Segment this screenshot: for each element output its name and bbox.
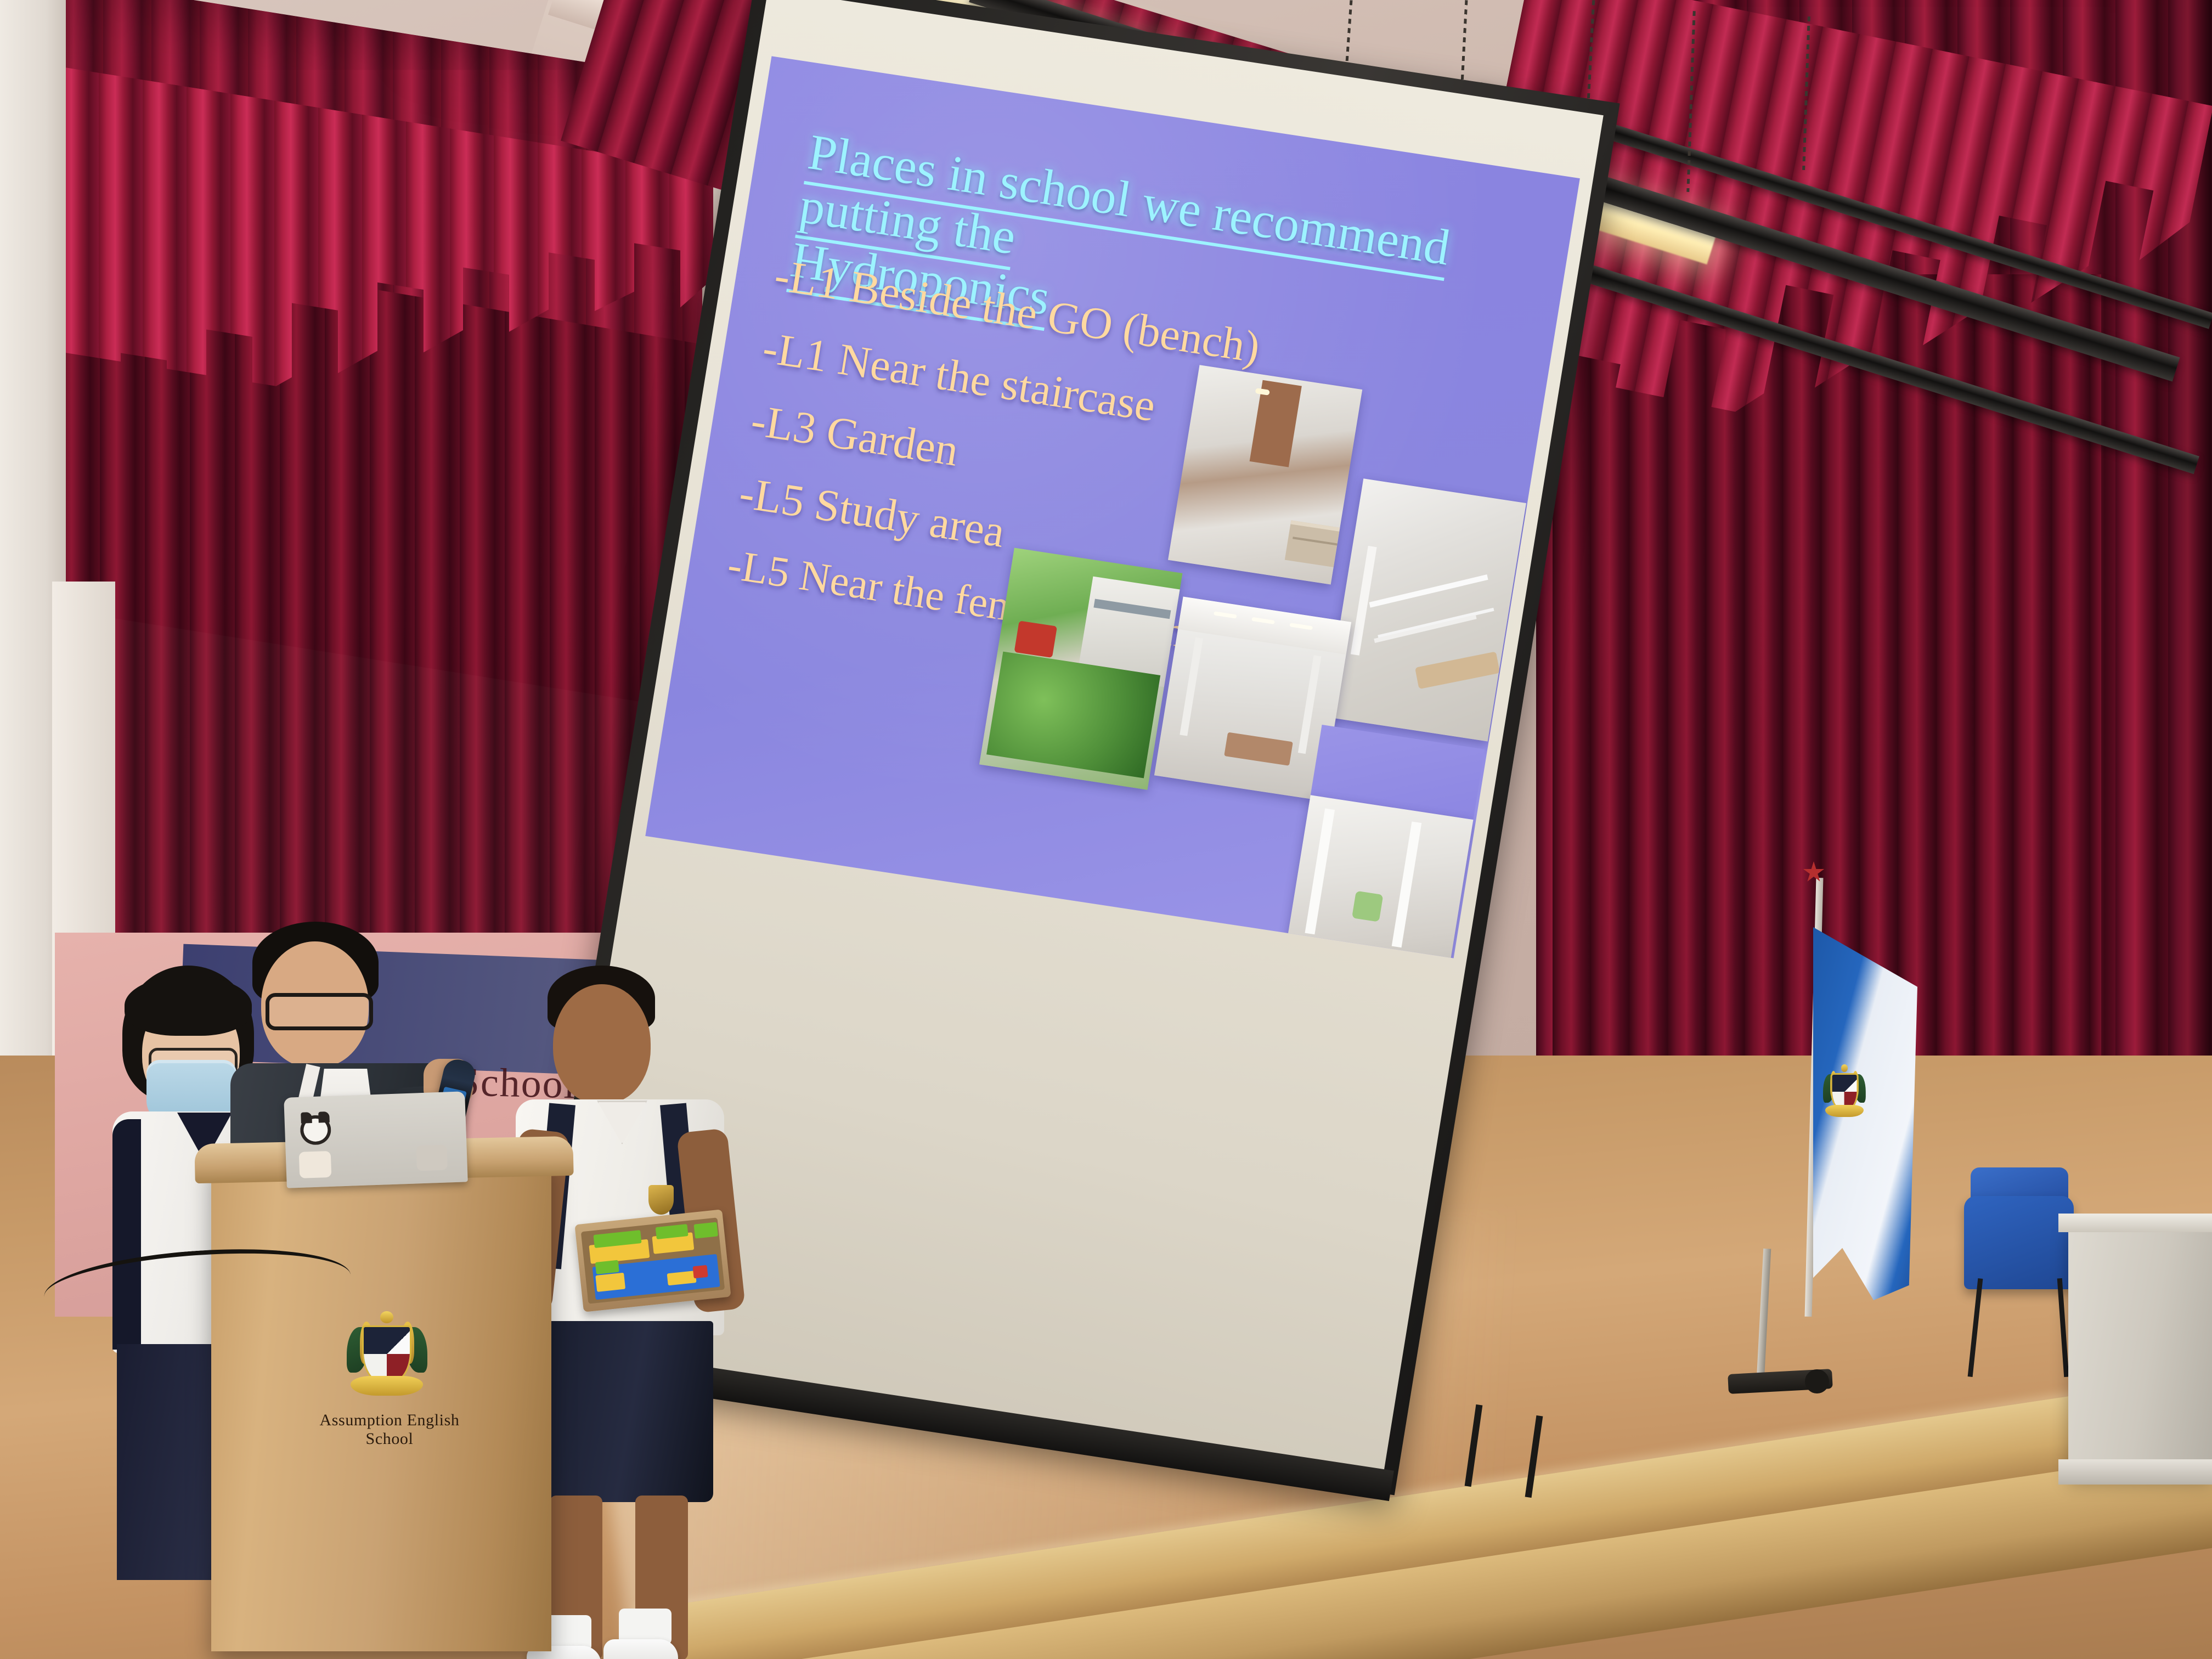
lectern-top-surface	[2058, 1214, 2212, 1232]
lego-hydroponics-model-tray[interactable]	[574, 1209, 731, 1312]
slide-photo-toilet-corridor	[1284, 795, 1474, 958]
flag-crest	[1822, 1064, 1866, 1119]
boy-mic-glasses	[266, 993, 373, 1030]
boy-model-head	[553, 984, 651, 1104]
lectern-base	[2058, 1459, 2212, 1485]
white-lectern[interactable]	[2068, 1223, 2212, 1476]
boy-model-shoe-right	[603, 1639, 678, 1659]
lego-model	[581, 1217, 725, 1304]
blue-chair-seat[interactable]	[1964, 1196, 2074, 1289]
podium-school-crest	[346, 1311, 428, 1399]
laptop-dog-sticker	[300, 1115, 331, 1145]
podium-school-name: Assumption English School	[296, 1411, 483, 1448]
slide-photo-garden	[979, 548, 1182, 790]
boy-model-shorts	[529, 1321, 713, 1502]
boy-model-crest-badge	[648, 1185, 674, 1215]
wooden-podium[interactable]	[211, 1158, 551, 1651]
microphone-stand-wheel	[1805, 1369, 1829, 1393]
laptop-sticker-3	[416, 1144, 448, 1171]
laptop-sticker-2	[299, 1151, 332, 1178]
hall-presentation-scene: mption English School Places in school w…	[0, 0, 2212, 1659]
presentation-slide: Places in school we recommend putting th…	[645, 56, 1580, 958]
slide-photo-corridor-bench	[1168, 365, 1362, 584]
laptop-on-podium[interactable]	[284, 1091, 468, 1188]
